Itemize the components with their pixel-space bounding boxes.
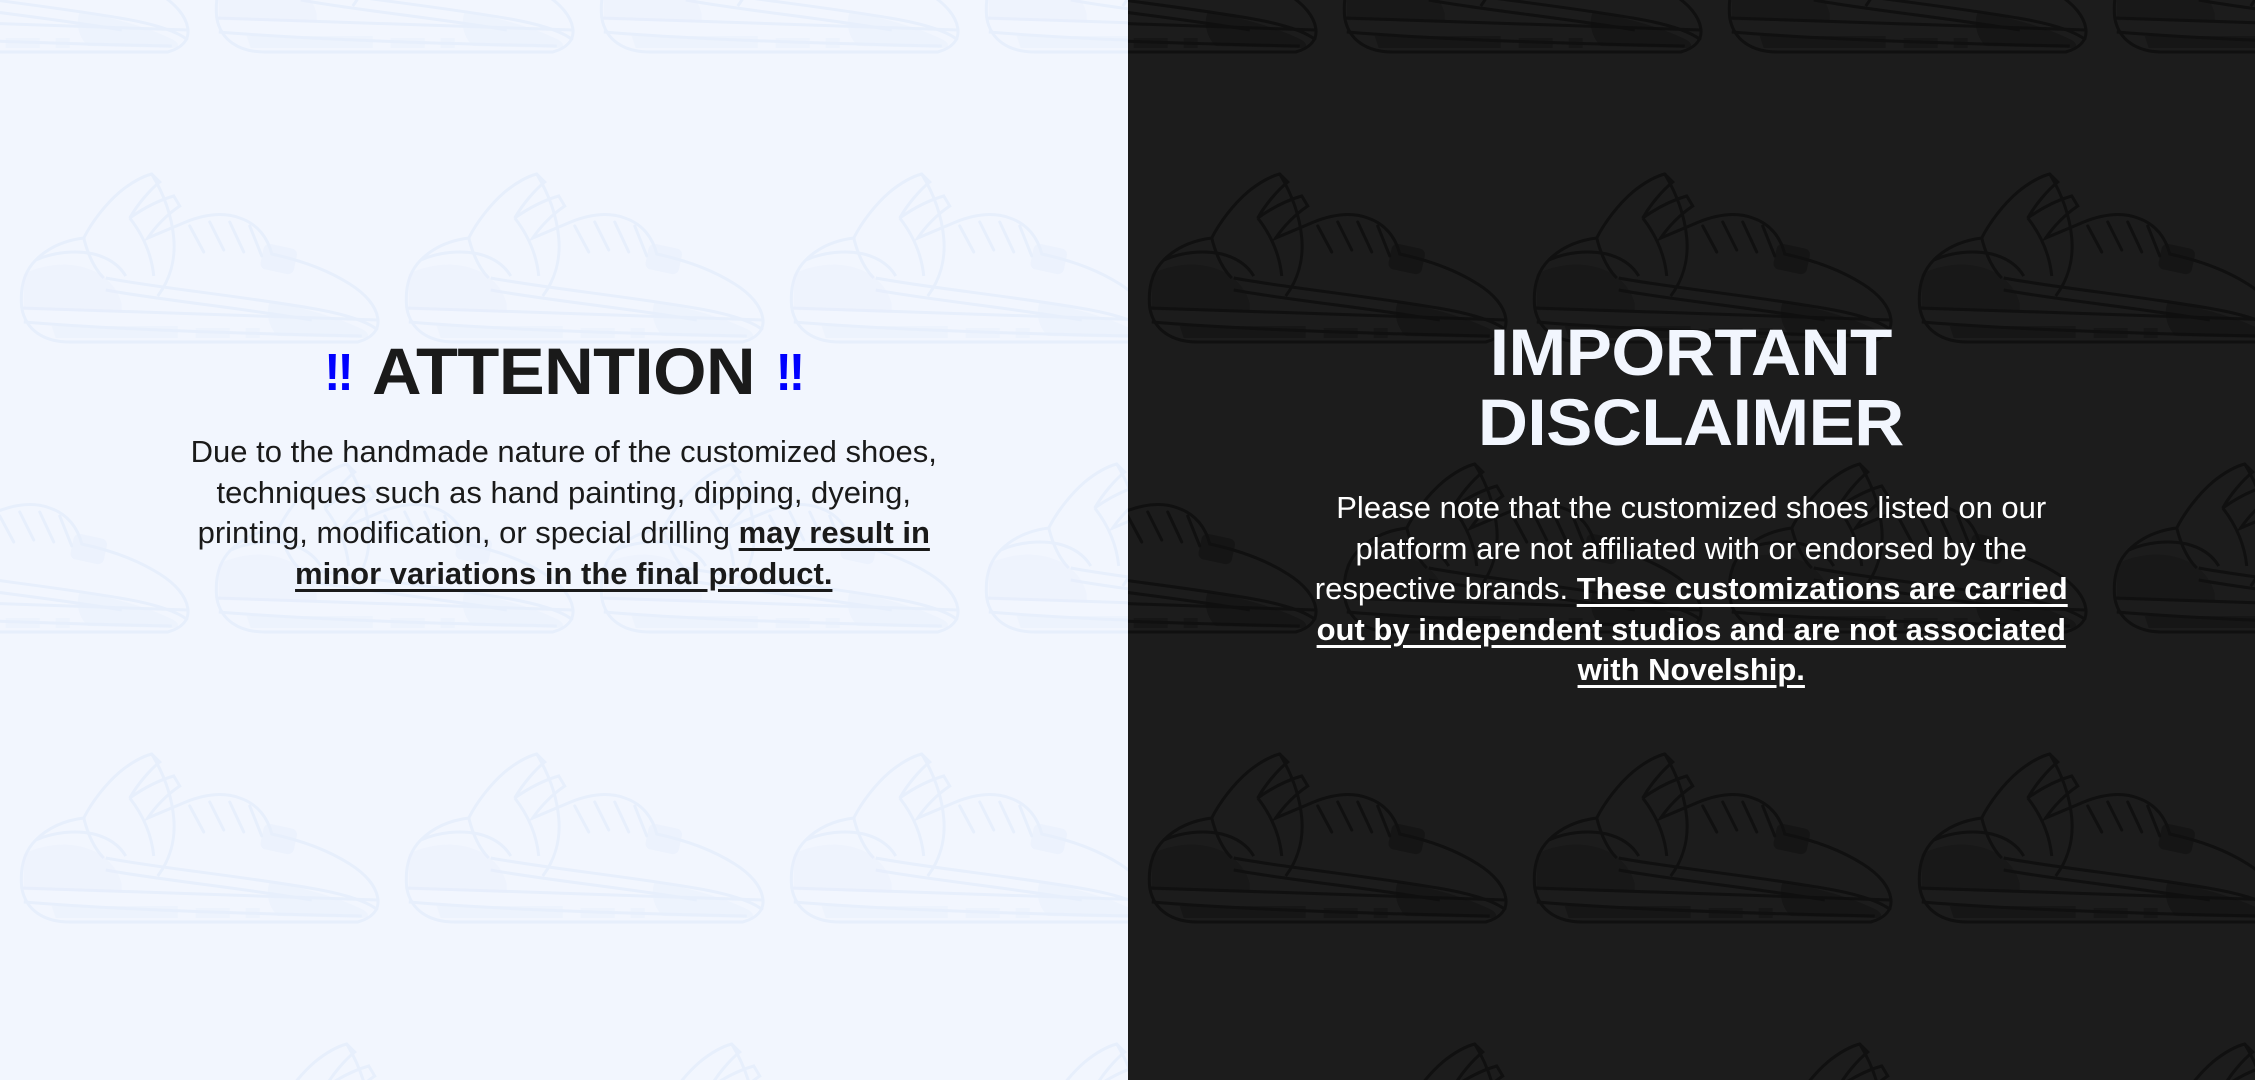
disclaimer-heading-line-1: IMPORTANT: [1490, 315, 1892, 389]
disclaimer-body: Please note that the customized shoes li…: [1291, 488, 2091, 691]
attention-heading-text: ATTENTION: [372, 334, 755, 408]
attention-heading: ‼ATTENTION‼: [323, 338, 805, 404]
attention-body: Due to the handmade nature of the custom…: [164, 432, 964, 594]
attention-content: ‼ATTENTION‼ Due to the handmade nature o…: [0, 0, 1128, 594]
double-exclamation-right-icon: ‼: [775, 347, 803, 399]
disclaimer-panel: IMPORTANTDISCLAIMER Please note that the…: [1128, 0, 2255, 1080]
disclaimer-heading: IMPORTANTDISCLAIMER: [1478, 318, 1904, 458]
disclaimer-heading-line-2: DISCLAIMER: [1478, 385, 1904, 459]
attention-panel: ‼ATTENTION‼ Due to the handmade nature o…: [0, 0, 1128, 1080]
double-exclamation-left-icon: ‼: [324, 347, 352, 399]
dual-panel-banner: ‼ATTENTION‼ Due to the handmade nature o…: [0, 0, 2255, 1080]
disclaimer-content: IMPORTANTDISCLAIMER Please note that the…: [1128, 0, 2255, 691]
